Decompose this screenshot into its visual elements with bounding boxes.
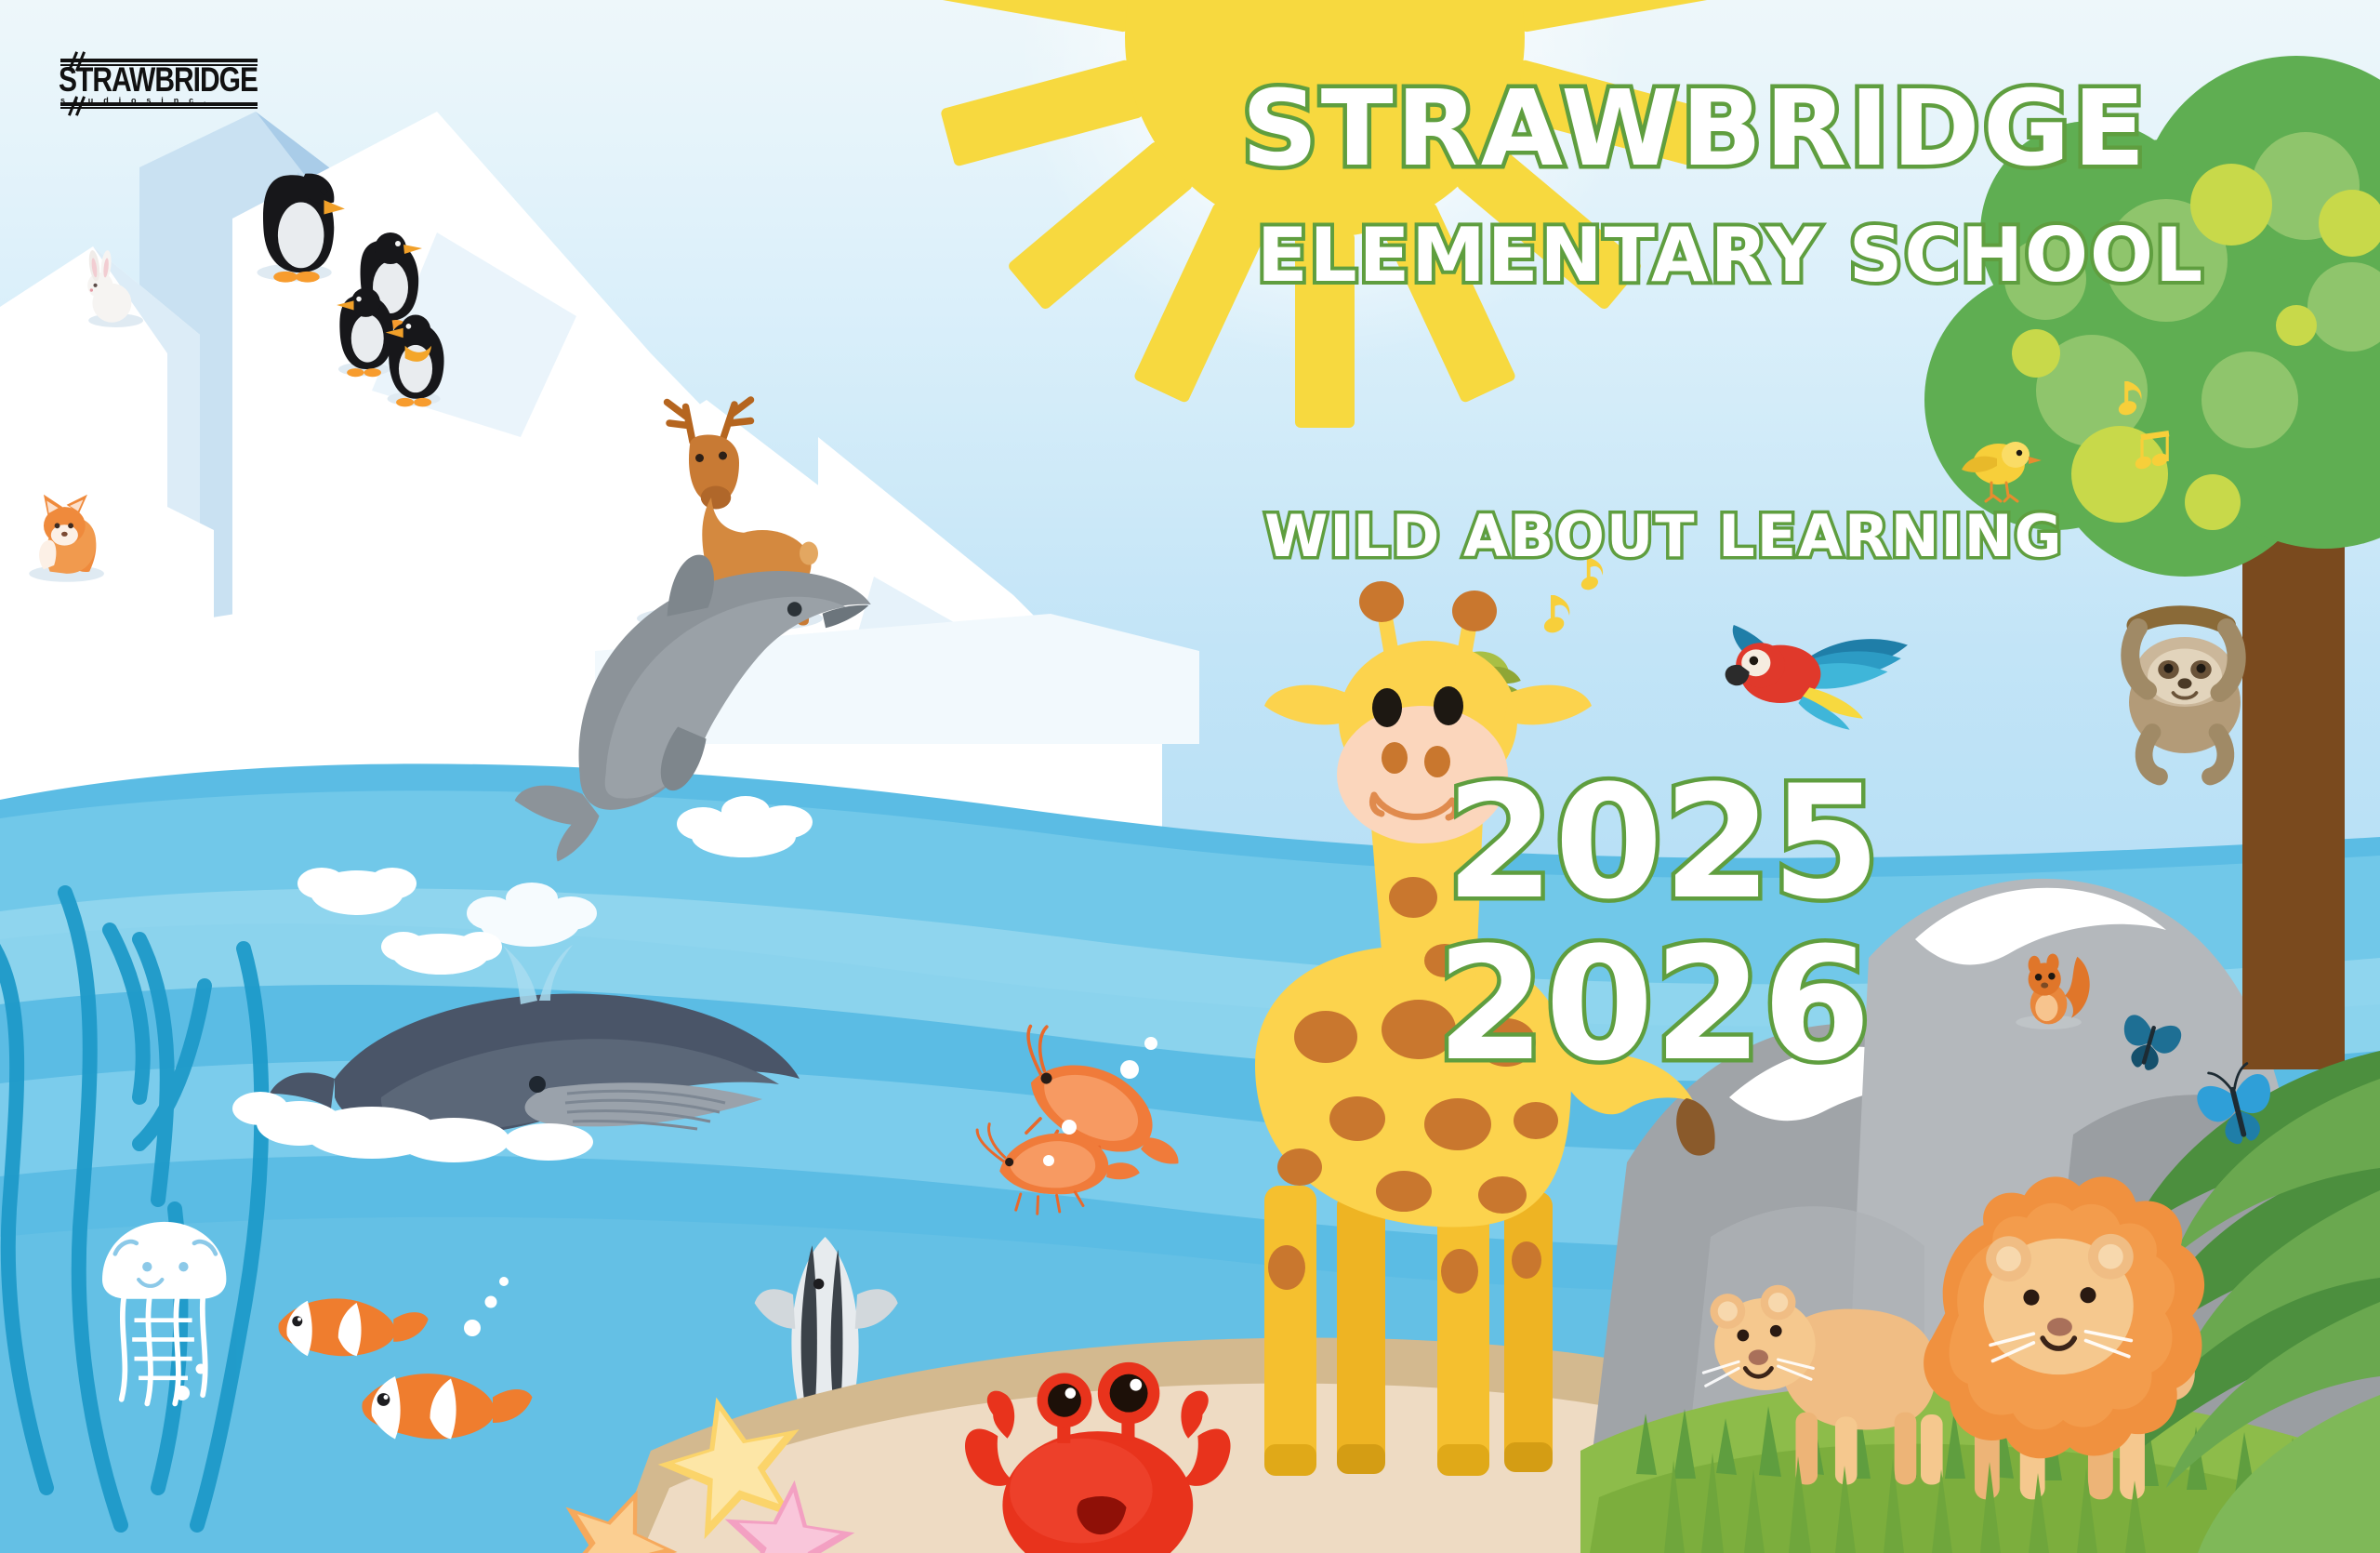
calendar-cover: STRAWBRIDGE s t u d i o s i n c . STRAWB… (0, 0, 2380, 1553)
logo-rule-bottom (60, 102, 258, 106)
strawbridge-studios-logo: STRAWBRIDGE s t u d i o s i n c . (51, 49, 274, 107)
cover-tagline: WILD ABOUT LEARNING (1264, 502, 2064, 570)
school-year-end: 2026 (1436, 913, 1871, 1095)
logo-wordmark: STRAWBRIDGE (59, 66, 267, 96)
school-name-line2: ELEMENTARY SCHOOL (1257, 212, 2204, 299)
school-name-line1: STRAWBRIDGE (1241, 69, 2148, 190)
school-year-start: 2025 (1446, 751, 1881, 934)
logo-rule-bottom-thin (60, 107, 258, 109)
